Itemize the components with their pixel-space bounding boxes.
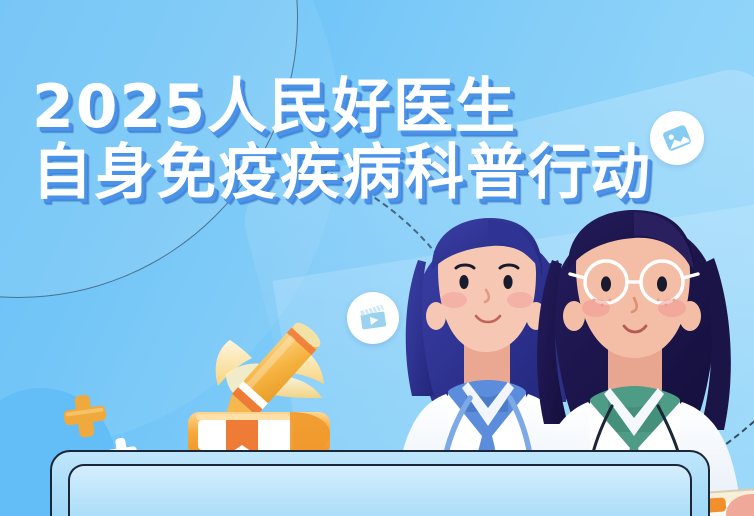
cross-orange-decoration [62,393,108,439]
video-clapperboard-icon [357,302,389,334]
photo-badge[interactable] [650,111,704,165]
poster-canvas: 2025人民好医生 自身免疫疾病科普行动 [0,0,754,516]
desk-counter-inner [68,464,692,516]
desk-counter [50,450,710,516]
image-icon [660,121,694,155]
video-badge[interactable] [347,292,399,344]
